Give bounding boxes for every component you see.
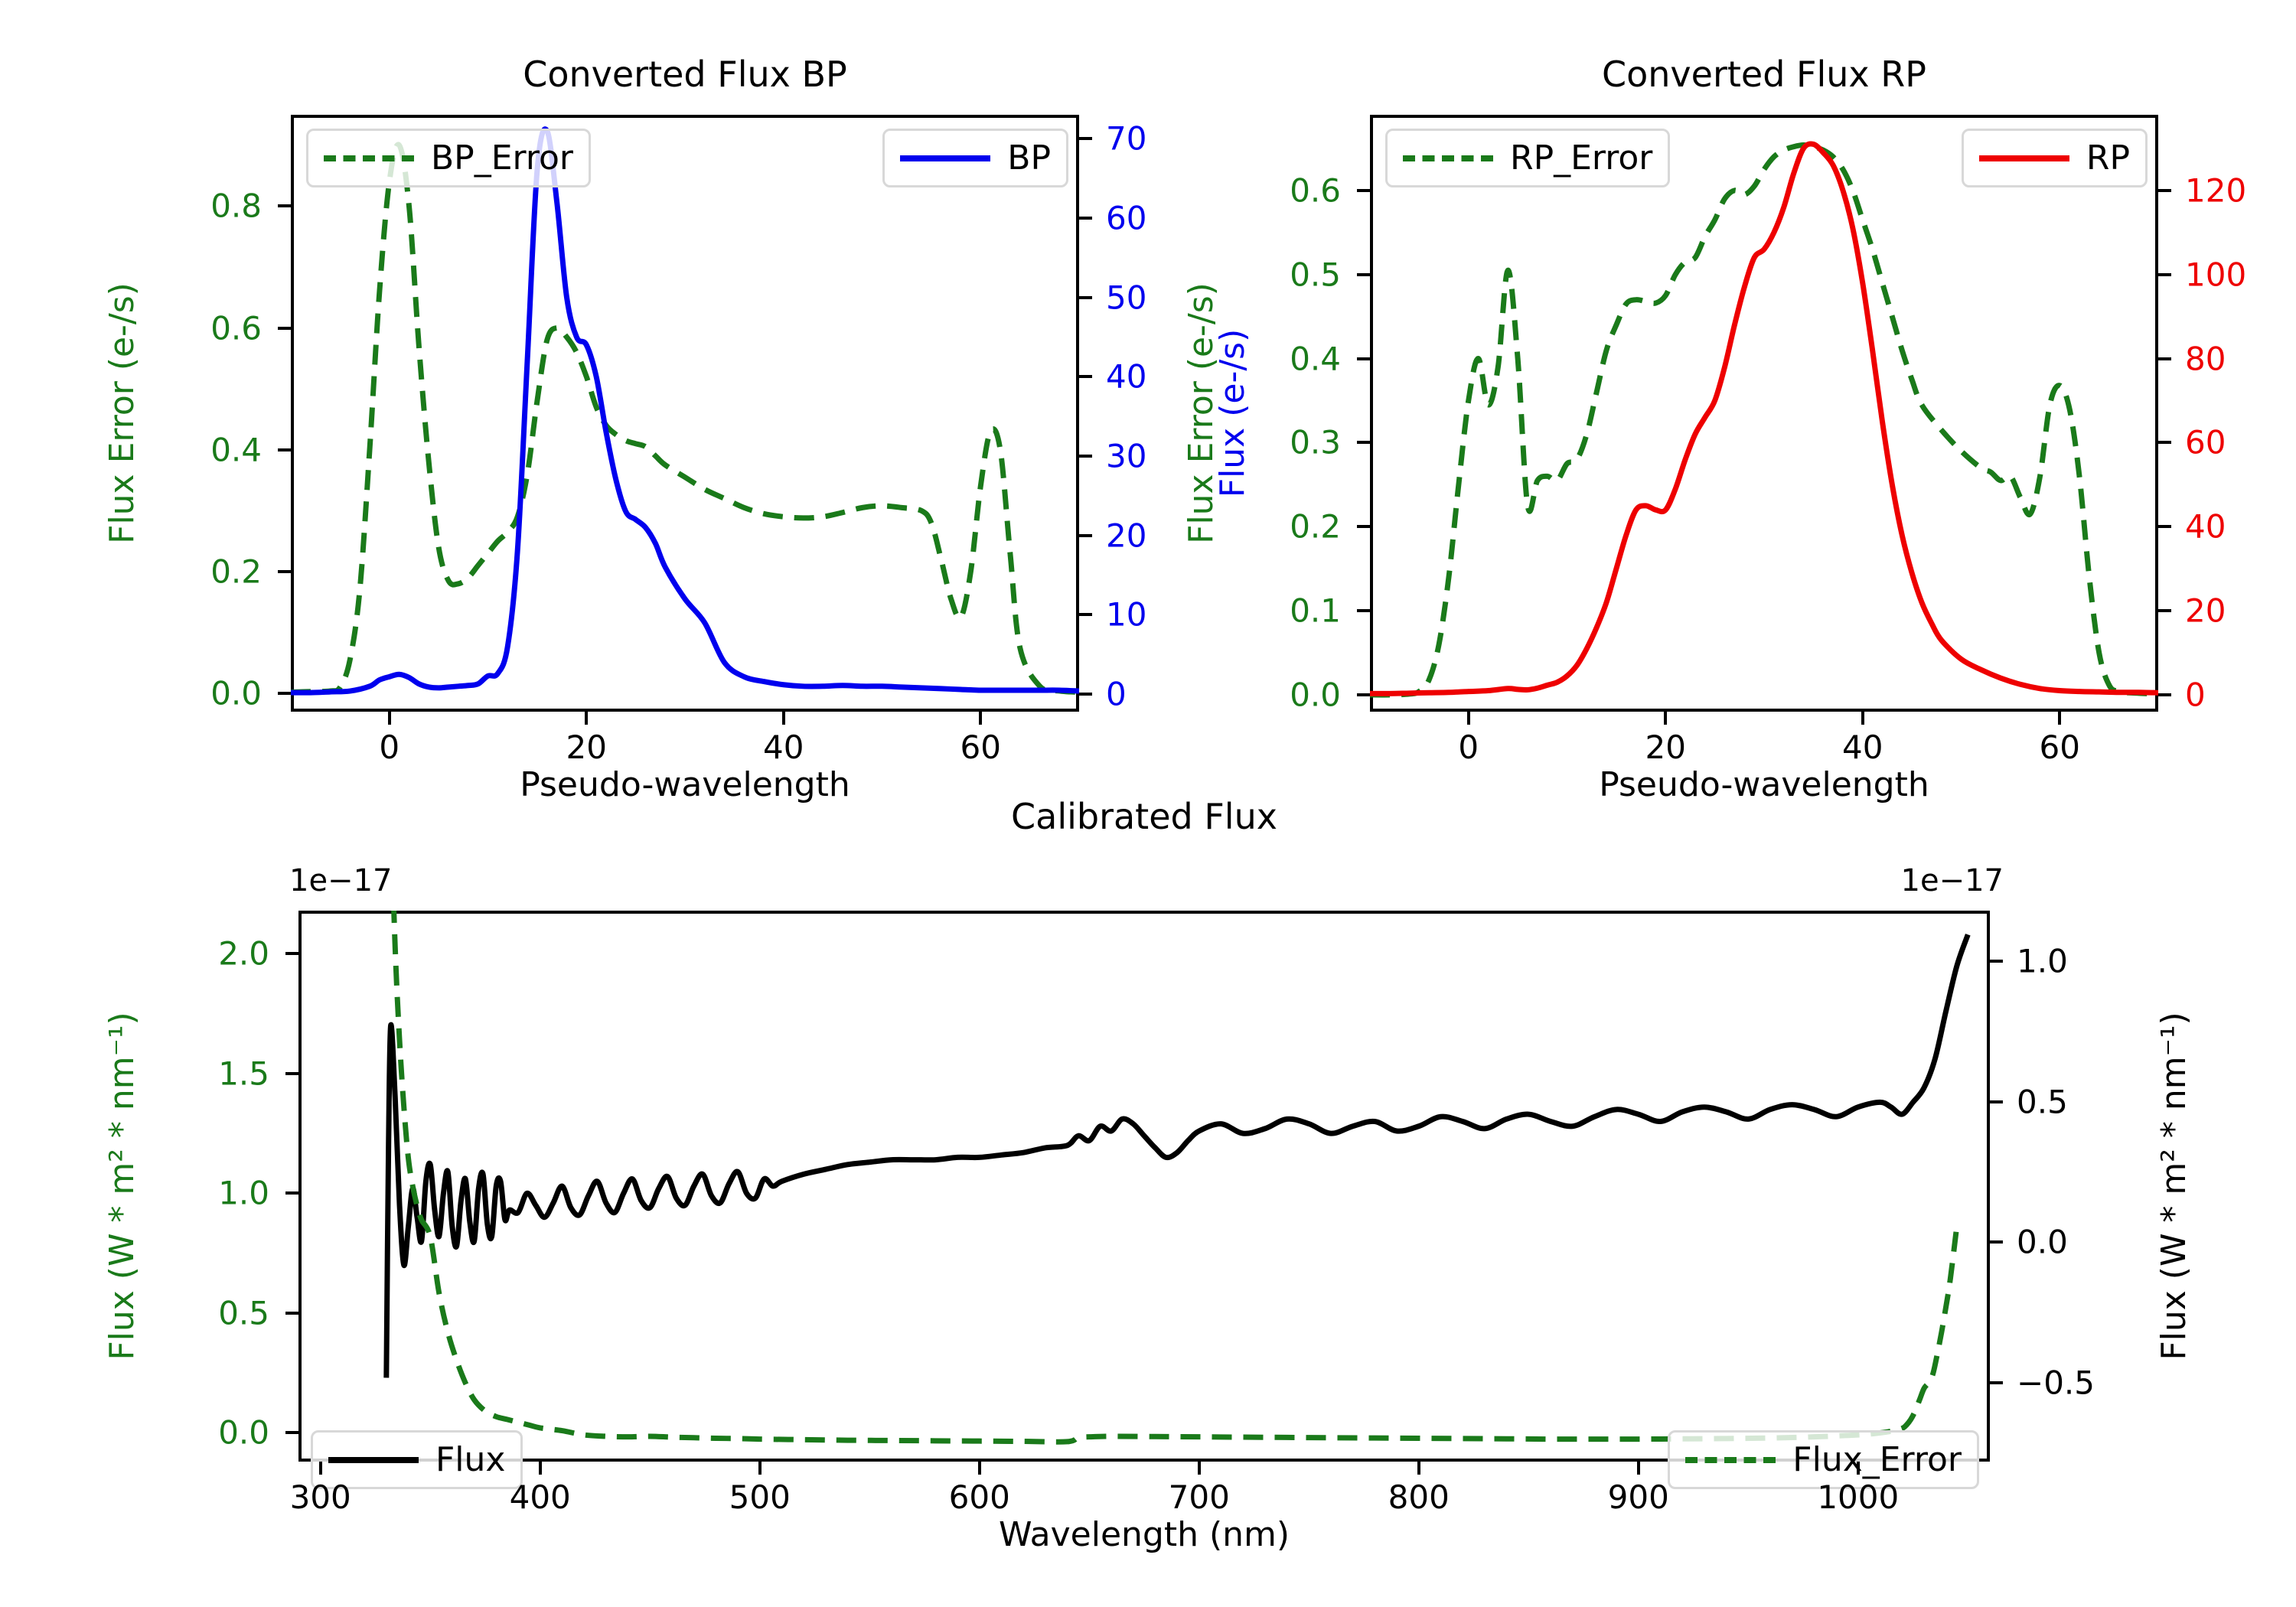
bp-ytick-left-mark — [278, 570, 291, 573]
bp-ytick-right-mark — [1079, 296, 1092, 299]
cal-ytick-left-mark — [285, 1072, 298, 1075]
cal-ytick-left-label: 0.0 — [218, 1414, 283, 1452]
rp-ytick-right-mark — [2158, 357, 2171, 360]
bp-xtick-mark — [585, 712, 588, 725]
rp-curve — [1370, 144, 2158, 693]
rp-error-swatch-icon — [1403, 155, 1493, 161]
rp-legend-error[interactable]: RP_Error — [1385, 129, 1670, 187]
cal-xtick-label: 700 — [1169, 1478, 1230, 1516]
cal-xtick-mark — [1857, 1462, 1860, 1475]
bp-ytick-left-label: 0.0 — [210, 675, 276, 712]
bp-ylabel-left: Flux Error (e-/s) — [103, 282, 142, 544]
flux-error-swatch-icon — [1685, 1457, 1776, 1463]
bp-ytick-right-mark — [1079, 534, 1092, 537]
cal-xtick-label: 900 — [1608, 1478, 1669, 1516]
rp-ytick-right-mark — [2158, 693, 2171, 696]
rp-ytick-right-label: 0 — [2171, 676, 2206, 714]
bp-ytick-right-mark — [1079, 137, 1092, 140]
cal-ytick-right-mark — [1990, 1381, 2003, 1384]
rp-ytick-left-mark — [1357, 525, 1370, 528]
rp-ylabel-left: Flux Error (e-/s) — [1182, 282, 1221, 544]
rp-plot-title: Converted Flux RP — [1370, 54, 2158, 95]
rp-ytick-left-mark — [1357, 189, 1370, 192]
rp-ytick-left-label: 0.6 — [1290, 171, 1355, 209]
cal-ytick-left-label: 1.5 — [218, 1054, 283, 1092]
cal-ytick-right-mark — [1990, 1240, 2003, 1244]
cal-ytick-right-label: −0.5 — [2003, 1364, 2095, 1402]
rp-xtick-label: 20 — [1645, 729, 1686, 766]
rp-ytick-left-mark — [1357, 609, 1370, 612]
calibrated-series-layer — [298, 911, 1990, 1462]
bp-ytick-left-label: 0.6 — [210, 309, 276, 347]
calibrated-xlabel: Wavelength (nm) — [999, 1515, 1290, 1554]
rp-xtick-mark — [1861, 712, 1864, 725]
bp-ytick-left-mark — [278, 204, 291, 207]
cal-xtick-label: 400 — [510, 1478, 571, 1516]
bp-error-swatch-icon — [324, 155, 414, 161]
bp-ytick-right-mark — [1079, 455, 1092, 458]
rp-ytick-left-mark — [1357, 357, 1370, 360]
rp-ytick-right-label: 40 — [2171, 508, 2226, 546]
rp-legend-flux[interactable]: RP — [1962, 129, 2148, 187]
rp-xtick-mark — [2058, 712, 2061, 725]
bp-ytick-left-label: 0.4 — [210, 431, 276, 468]
bp-ytick-right-mark — [1079, 375, 1092, 378]
cal-xtick-mark — [758, 1462, 762, 1475]
bp-ytick-left-mark — [278, 448, 291, 451]
cal-ytick-left-mark — [285, 1312, 298, 1315]
bp-legend-error[interactable]: BP_Error — [306, 129, 591, 187]
cal-ytick-left-label: 1.0 — [218, 1175, 283, 1212]
cal-ytick-right-mark — [1990, 1100, 2003, 1103]
rp-xtick-label: 40 — [1842, 729, 1883, 766]
rp-flux-legend-label: RP — [2086, 139, 2130, 178]
rp-ytick-left-label: 0.2 — [1290, 508, 1355, 546]
rp-ytick-left-mark — [1357, 273, 1370, 276]
cal-xtick-label: 800 — [1388, 1478, 1450, 1516]
bp-ytick-left-mark — [278, 692, 291, 695]
bp-ytick-right-mark — [1079, 693, 1092, 696]
cal-xtick-label: 500 — [729, 1478, 791, 1516]
bp-ytick-right-label: 50 — [1092, 279, 1146, 316]
bp-flux-swatch-icon — [900, 155, 990, 161]
cal-xtick-mark — [319, 1462, 322, 1475]
rp-error-legend-label: RP_Error — [1510, 139, 1652, 178]
calibrated-plot-title: Calibrated Flux — [298, 796, 1990, 837]
cal-ytick-left-label: 0.5 — [218, 1294, 283, 1332]
rp-ytick-right-mark — [2158, 525, 2171, 528]
bp-ytick-right-mark — [1079, 217, 1092, 220]
panel-converted-flux-bp: Converted Flux BP BP_Error BP Flux Error… — [291, 115, 1079, 742]
rp-series-layer — [1370, 115, 2158, 712]
cal-xtick-label: 300 — [290, 1478, 351, 1516]
cal-ytick-left-mark — [285, 952, 298, 955]
rp-ytick-right-label: 100 — [2171, 256, 2246, 293]
rp-ytick-left-mark — [1357, 693, 1370, 696]
rp-ytick-left-label: 0.0 — [1290, 676, 1355, 714]
bp-xtick-label: 40 — [763, 729, 804, 766]
bp-ytick-right-label: 30 — [1092, 438, 1146, 475]
flux-curve — [386, 934, 1968, 1377]
cal-xtick-mark — [1198, 1462, 1201, 1475]
bp-xtick-mark — [388, 712, 391, 725]
rp-xtick-label: 60 — [2040, 729, 2080, 766]
bp-plot-title: Converted Flux BP — [291, 54, 1079, 95]
rp-ytick-right-mark — [2158, 273, 2171, 276]
bp-ytick-right-label: 70 — [1092, 120, 1146, 158]
bp-ytick-left-label: 0.2 — [210, 553, 276, 590]
panel-converted-flux-rp: Converted Flux RP RP_Error RP Flux Error… — [1370, 115, 2158, 742]
bp-ytick-right-mark — [1079, 613, 1092, 616]
rp-ytick-right-mark — [2158, 609, 2171, 612]
bp-xtick-label: 60 — [960, 729, 1001, 766]
bp-xtick-mark — [979, 712, 982, 725]
calibrated-exponent-right: 1e−17 — [1901, 863, 2004, 898]
calibrated-ylabel-left: Flux (W * m² * nm⁻¹) — [103, 1012, 142, 1360]
rp-xtick-mark — [1664, 712, 1667, 725]
cal-ytick-right-label: 1.0 — [2003, 943, 2068, 980]
calibrated-exponent-left: 1e−17 — [289, 863, 392, 898]
cal-xtick-mark — [1637, 1462, 1640, 1475]
bp-series-layer — [291, 115, 1079, 712]
rp-ytick-left-label: 0.3 — [1290, 424, 1355, 461]
bp-error-curve — [291, 145, 1079, 693]
rp-ytick-right-label: 20 — [2171, 592, 2226, 630]
calibrated-ylabel-right: Flux (W * m² * nm⁻¹) — [2154, 1012, 2193, 1360]
cal-ytick-left-mark — [285, 1431, 298, 1434]
cal-ytick-right-label: 0.5 — [2003, 1083, 2068, 1120]
bp-flux-legend-label: BP — [1007, 139, 1051, 178]
cal-xtick-mark — [539, 1462, 542, 1475]
rp-ytick-left-mark — [1357, 441, 1370, 444]
flux-legend-label: Flux — [435, 1440, 505, 1479]
flux-error-legend-label: Flux_Error — [1792, 1440, 1962, 1479]
bp-error-legend-label: BP_Error — [431, 139, 573, 178]
bp-ytick-left-mark — [278, 327, 291, 330]
cal-xtick-mark — [978, 1462, 981, 1475]
cal-ytick-left-label: 2.0 — [218, 935, 283, 973]
cal-xtick-label: 1000 — [1817, 1478, 1899, 1516]
bp-ytick-right-label: 10 — [1092, 596, 1146, 634]
rp-ytick-right-label: 60 — [2171, 424, 2226, 461]
bp-legend-flux[interactable]: BP — [882, 129, 1068, 187]
cal-ytick-left-mark — [285, 1191, 298, 1195]
flux-swatch-icon — [328, 1457, 419, 1463]
bp-xtick-label: 20 — [566, 729, 607, 766]
bp-xtick-mark — [782, 712, 785, 725]
rp-ytick-right-label: 120 — [2171, 171, 2246, 209]
bp-ytick-right-label: 60 — [1092, 199, 1146, 236]
rp-ytick-left-label: 0.1 — [1290, 592, 1355, 630]
rp-ytick-left-label: 0.4 — [1290, 340, 1355, 377]
cal-xtick-label: 600 — [949, 1478, 1010, 1516]
rp-ytick-right-mark — [2158, 441, 2171, 444]
bp-xtick-label: 0 — [379, 729, 400, 766]
rp-error-curve — [1370, 145, 2158, 696]
cal-xtick-mark — [1417, 1462, 1420, 1475]
rp-ytick-left-label: 0.5 — [1290, 256, 1355, 293]
cal-ytick-right-mark — [1990, 960, 2003, 963]
rp-flux-swatch-icon — [1979, 155, 2069, 161]
rp-xtick-mark — [1467, 712, 1470, 725]
bp-ytick-right-label: 0 — [1092, 676, 1127, 713]
panel-calibrated-flux: Calibrated Flux 1e−17 1e−17 Flux Flux_Er… — [298, 911, 1990, 1500]
rp-xtick-label: 0 — [1458, 729, 1479, 766]
bp-ytick-left-label: 0.8 — [210, 187, 276, 225]
rp-ytick-right-mark — [2158, 189, 2171, 192]
rp-ytick-right-label: 80 — [2171, 340, 2226, 377]
bp-ytick-right-label: 20 — [1092, 517, 1146, 554]
bp-ytick-right-label: 40 — [1092, 358, 1146, 396]
cal-ytick-right-label: 0.0 — [2003, 1224, 2068, 1261]
